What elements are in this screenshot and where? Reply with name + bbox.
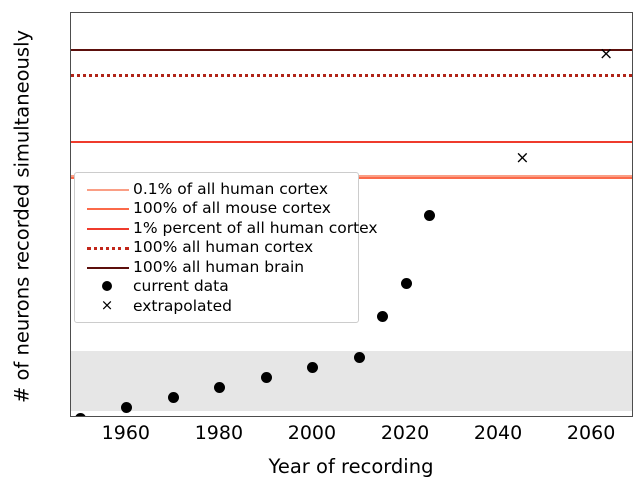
- legend-label: 0.1% of all human cortex: [133, 180, 328, 198]
- figure-canvas: # of neurons recorded simultaneously ×× …: [0, 0, 640, 485]
- shaded-region: [71, 351, 632, 412]
- legend-label: extrapolated: [133, 297, 232, 315]
- legend-swatch: [81, 238, 133, 258]
- legend-line-icon: [87, 247, 129, 250]
- x-tick-mark: [127, 416, 128, 417]
- reference-line-2: [71, 141, 632, 143]
- y-tick-mark: [70, 317, 71, 318]
- y-tick-mark: [70, 47, 71, 48]
- y-tick-mark: [70, 249, 71, 250]
- legend-label: 100% of all mouse cortex: [133, 199, 331, 217]
- reference-line-3: [71, 74, 632, 77]
- chart-legend: 0.1% of all human cortex100% of all mous…: [74, 172, 359, 323]
- x-tick-mark: [592, 416, 593, 417]
- data-point-extrapolated: ×: [514, 150, 530, 166]
- legend-swatch: [81, 179, 133, 199]
- legend-swatch: ×: [81, 296, 133, 316]
- legend-item: 0.1% of all human cortex: [81, 179, 350, 199]
- x-tick-label: 2060: [567, 422, 615, 444]
- x-tick-label: 2020: [381, 422, 429, 444]
- legend-label: 100% all human cortex: [133, 238, 313, 256]
- x-tick-label: 1980: [195, 422, 243, 444]
- data-point-current: [261, 372, 272, 383]
- y-tick-mark: [70, 182, 71, 183]
- x-tick-mark: [406, 416, 407, 417]
- legend-item: 100% all human brain: [81, 257, 350, 277]
- x-tick-label: 2040: [474, 422, 522, 444]
- legend-circle-icon: [102, 281, 112, 291]
- x-tick-label: 2000: [288, 422, 336, 444]
- data-point-current: [75, 413, 86, 418]
- legend-line-icon: [87, 228, 129, 230]
- legend-line-icon: [87, 189, 129, 191]
- data-point-current: [354, 352, 365, 363]
- legend-item: 100% all human cortex: [81, 238, 350, 258]
- x-tick-mark: [220, 416, 221, 417]
- data-point-extrapolated: ×: [598, 46, 614, 62]
- legend-cross-icon: ×: [81, 296, 133, 316]
- legend-item: 1% percent of all human cortex: [81, 218, 350, 238]
- legend-item: 100% of all mouse cortex: [81, 199, 350, 219]
- legend-label: 100% all human brain: [133, 258, 304, 276]
- data-point-current: [401, 278, 412, 289]
- legend-swatch: [81, 277, 133, 297]
- reference-line-4: [71, 49, 632, 51]
- legend-label: 1% percent of all human cortex: [133, 219, 378, 237]
- legend-swatch: [81, 257, 133, 277]
- data-point-current: [121, 402, 132, 413]
- legend-item: current data: [81, 277, 350, 297]
- x-tick-mark: [499, 416, 500, 417]
- legend-swatch: [81, 199, 133, 219]
- legend-swatch: [81, 218, 133, 238]
- y-tick-mark: [70, 384, 71, 385]
- y-axis-label: # of neurons recorded simultaneously: [11, 7, 34, 427]
- legend-item: ×extrapolated: [81, 296, 350, 316]
- legend-line-icon: [87, 267, 129, 269]
- legend-line-icon: [87, 208, 129, 210]
- x-tick-mark: [313, 416, 314, 417]
- x-axis-label: Year of recording: [68, 455, 634, 478]
- legend-label: current data: [133, 277, 229, 295]
- data-point-current: [168, 392, 179, 403]
- x-tick-label: 1960: [102, 422, 150, 444]
- data-point-current: [377, 311, 388, 322]
- data-point-current: [424, 210, 435, 221]
- y-tick-mark: [70, 114, 71, 115]
